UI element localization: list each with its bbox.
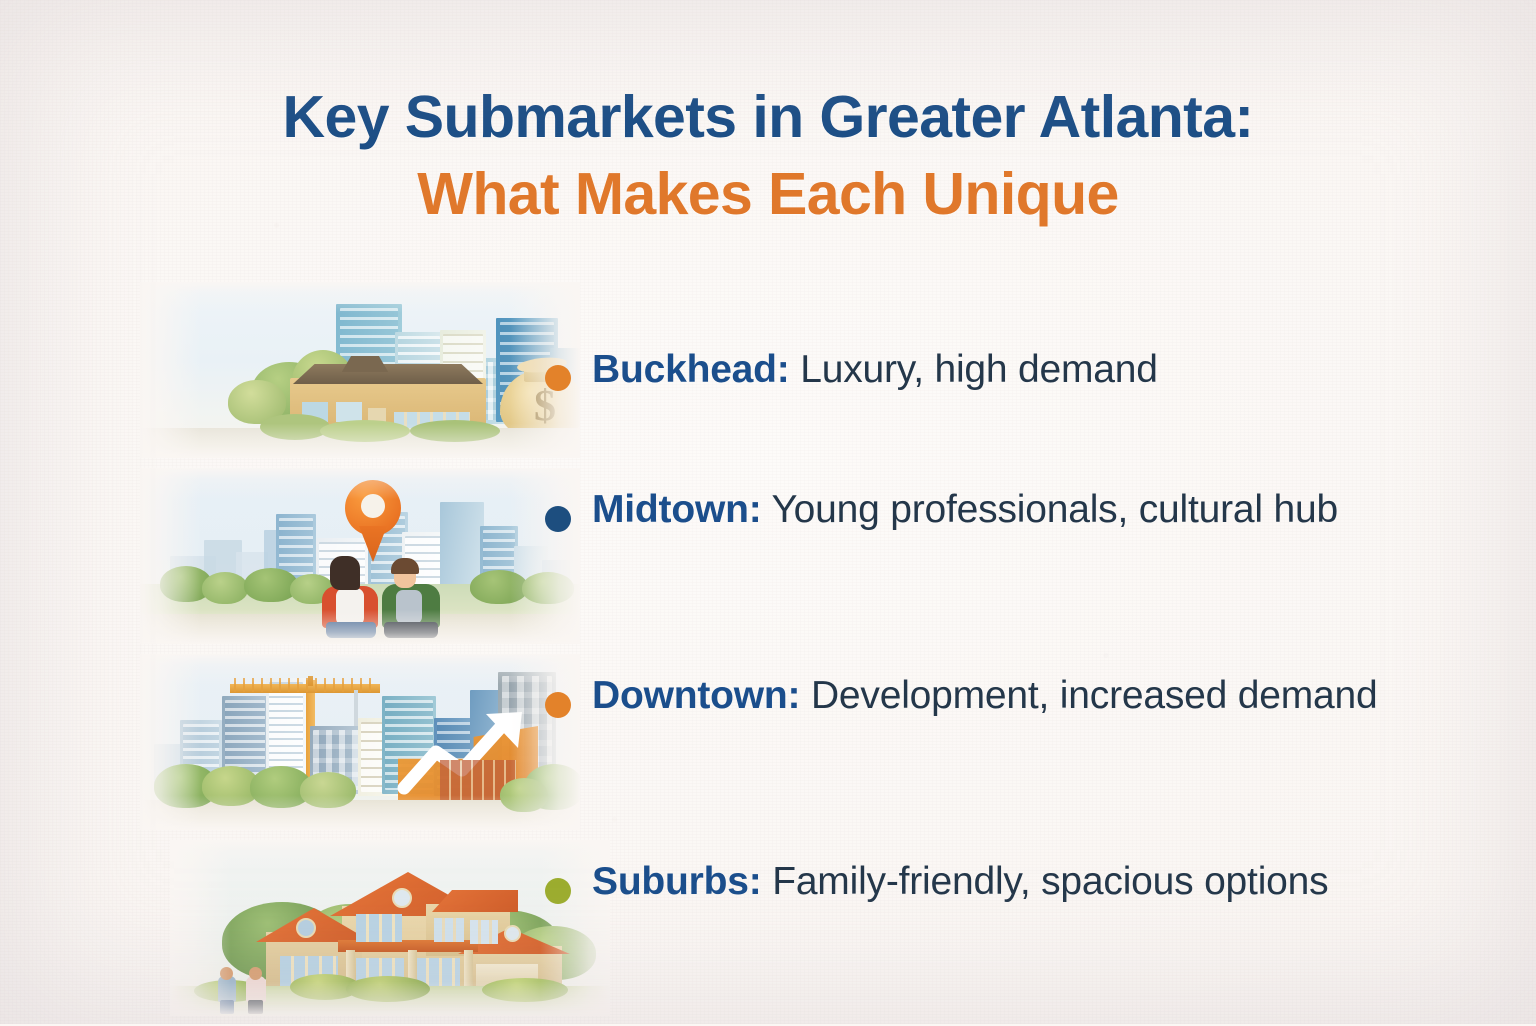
header: Key Submarkets in Greater Atlanta: What … xyxy=(0,86,1536,225)
submarket-desc-buckhead: Luxury, high demand xyxy=(790,348,1158,391)
list-item-midtown: Midtown: Young professionals, cultural h… xyxy=(0,468,1536,654)
midtown-illustration xyxy=(140,468,580,644)
submarket-label-buckhead: Buckhead: xyxy=(592,348,790,391)
submarket-desc-suburbs: Family-friendly, spacious options xyxy=(762,860,1329,903)
list-item-text-suburbs: Suburbs: Family-friendly, spacious optio… xyxy=(592,852,1412,911)
page-title-line2: What Makes Each Unique xyxy=(0,163,1536,226)
bullet-marker-suburbs xyxy=(545,878,571,904)
downtown-illustration xyxy=(140,654,580,830)
submarket-label-midtown: Midtown: xyxy=(592,488,762,531)
suburbs-illustration xyxy=(170,840,610,1016)
submarket-desc-midtown: Young professionals, cultural hub xyxy=(762,488,1338,531)
list-item-suburbs: Suburbs: Family-friendly, spacious optio… xyxy=(0,840,1536,1026)
bullet-marker-buckhead xyxy=(545,365,571,391)
submarket-label-suburbs: Suburbs: xyxy=(592,860,762,903)
list-item-buckhead: $ Buckhead: Luxury, high demand xyxy=(0,282,1536,468)
bullet-marker-downtown xyxy=(545,692,571,718)
list-item-text-midtown: Midtown: Young professionals, cultural h… xyxy=(592,480,1412,539)
buckhead-illustration: $ xyxy=(140,282,580,458)
list-item-downtown: Downtown: Development, increased demand xyxy=(0,654,1536,840)
list-item-text-buckhead: Buckhead: Luxury, high demand xyxy=(592,340,1412,399)
list-item-text-downtown: Downtown: Development, increased demand xyxy=(592,666,1412,725)
submarket-label-downtown: Downtown: xyxy=(592,674,800,717)
page-title-line1: Key Submarkets in Greater Atlanta: xyxy=(0,86,1536,149)
submarket-desc-downtown: Development, increased demand xyxy=(800,674,1377,717)
submarket-list: $ Buckhead: Luxury, high demand xyxy=(0,282,1536,1026)
bullet-marker-midtown xyxy=(545,506,571,532)
